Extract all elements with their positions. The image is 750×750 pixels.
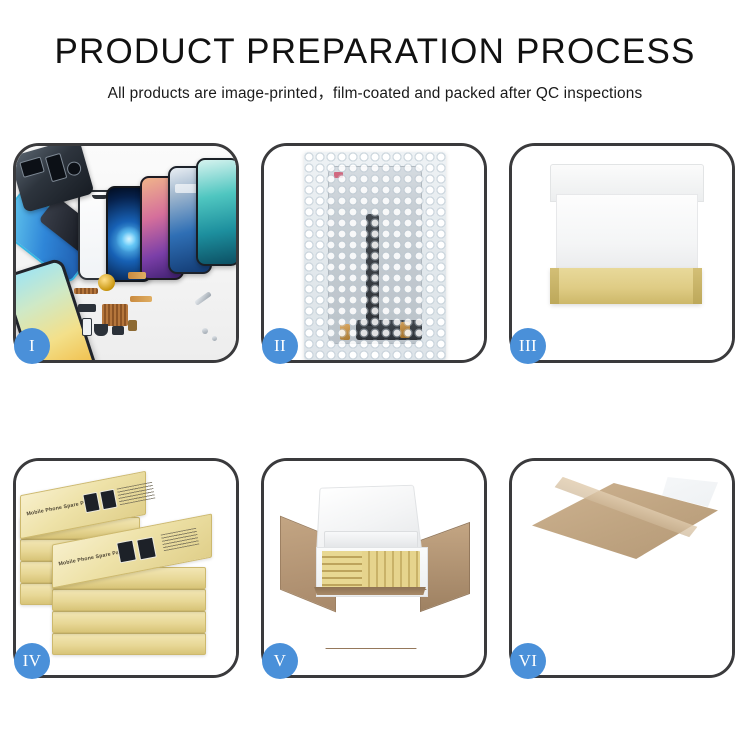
stacked-box-front-3 — [52, 589, 206, 611]
bubble-wrap-bag — [304, 152, 446, 360]
step-image-6 — [512, 461, 732, 675]
flex-cable-bottom — [356, 320, 422, 340]
page-title: PRODUCT PREPARATION PROCESS — [0, 32, 750, 72]
carton-front-panel — [308, 589, 434, 649]
stacked-box-front-4 — [52, 611, 206, 633]
foam-sheet — [556, 194, 698, 274]
step-image-3 — [512, 146, 732, 360]
packed-yellow-boxes-side — [322, 551, 362, 589]
screw-b — [212, 336, 217, 341]
flex-cable-main — [366, 214, 379, 326]
small-part-a — [78, 304, 96, 312]
carton-tab-upper — [566, 547, 584, 569]
step-badge-6: VI — [510, 643, 546, 679]
speaker-part — [94, 324, 108, 336]
product-preparation-infographic: PRODUCT PREPARATION PROCESS All products… — [0, 0, 750, 750]
phone-screen-teal — [196, 158, 236, 266]
small-part-b — [112, 326, 124, 335]
chip-array — [102, 304, 128, 326]
step-panel-6: VI — [509, 458, 735, 678]
camera-module — [65, 160, 82, 177]
step-badge-2: II — [262, 328, 298, 364]
stacked-box-front-5 — [52, 633, 206, 655]
box-stack: Mobile Phone Spare Parts Mobile Phone Sp… — [16, 461, 236, 675]
step-badge-1: I — [14, 328, 50, 364]
screw-a — [202, 328, 208, 334]
page-subtitle: All products are image-printed，film-coat… — [0, 81, 750, 103]
connector-strip — [74, 288, 98, 294]
taptic-engine-part — [98, 274, 115, 291]
step-panel-5: V — [261, 458, 487, 678]
step-badge-3: III — [510, 328, 546, 364]
kraft-box-base — [550, 268, 702, 304]
step-panel-2: II — [261, 143, 487, 363]
step-panel-4: Mobile Phone Spare Parts Mobile Phone Sp… — [13, 458, 239, 678]
step-image-5 — [264, 461, 484, 675]
header: PRODUCT PREPARATION PROCESS All products… — [0, 0, 750, 103]
step-image-1 — [16, 146, 236, 360]
step-image-2 — [264, 146, 484, 360]
housing-module-b — [45, 153, 68, 182]
gold-connector-left — [340, 324, 350, 340]
step-badge-5: V — [262, 643, 298, 679]
housing-module-a — [19, 156, 45, 177]
flex-cable-b — [130, 296, 152, 302]
step-badge-4: IV — [14, 643, 50, 679]
label-sticker — [334, 172, 343, 178]
step-panel-3: III — [509, 143, 735, 363]
carton-tab-lower — [572, 609, 588, 627]
step-panel-1: I — [13, 143, 239, 363]
sim-tray — [82, 318, 92, 336]
step-image-4: Mobile Phone Spare Parts Mobile Phone Sp… — [16, 461, 236, 675]
steps-grid: I II — [13, 143, 737, 678]
small-part-c — [128, 320, 137, 331]
screen-glow — [116, 226, 142, 252]
flex-cable-a — [128, 272, 146, 279]
gold-connector-right — [400, 322, 410, 338]
